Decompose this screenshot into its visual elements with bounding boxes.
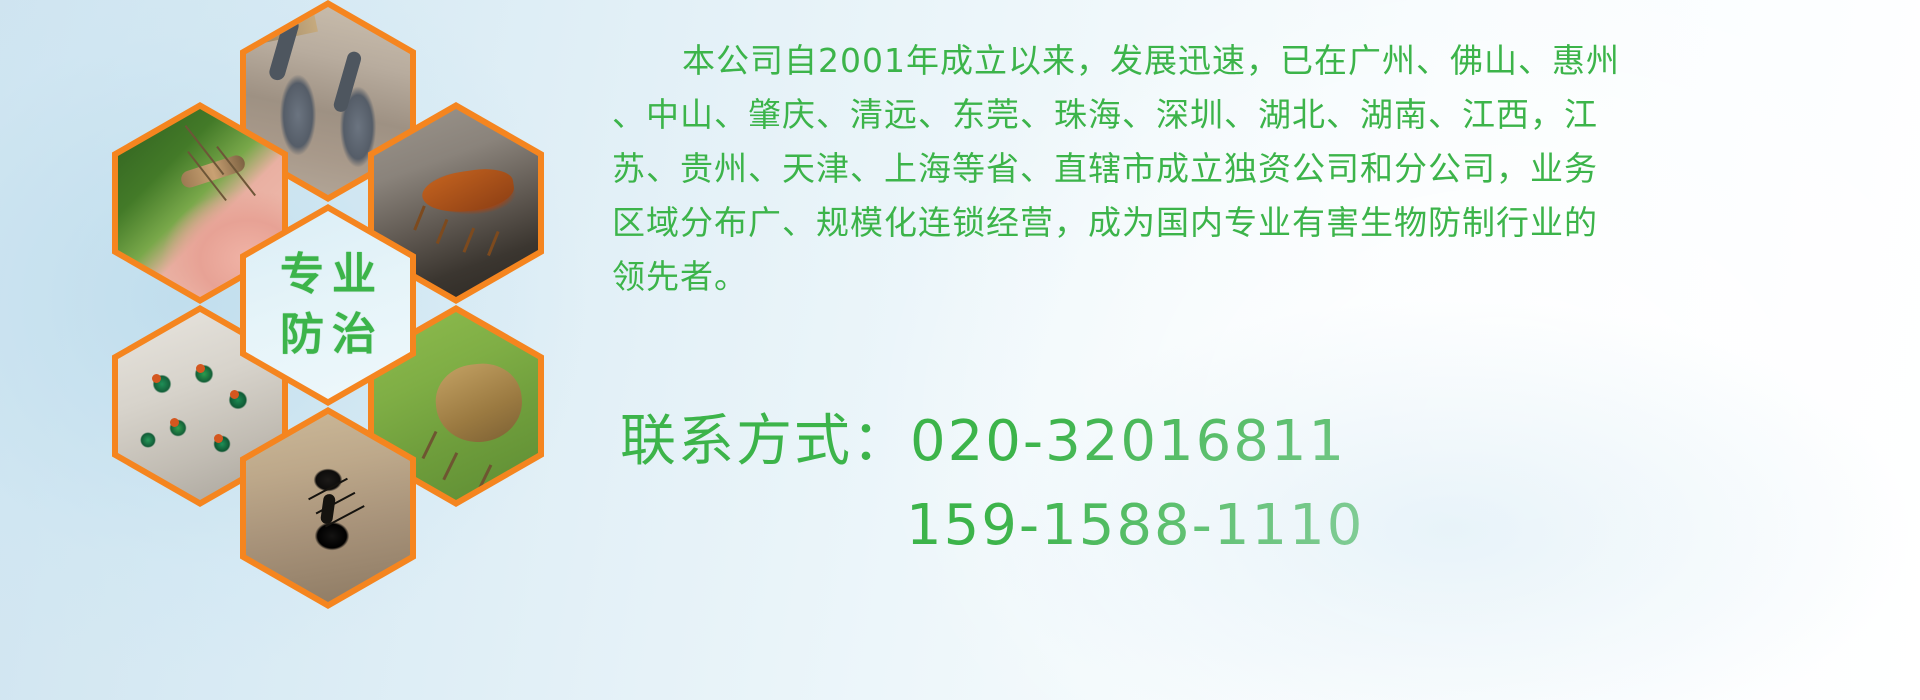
company-description: 本公司自2001年成立以来，发展迅速，已在广州、佛山、惠州 、中山、肇庆、清远、… xyxy=(612,34,1862,304)
description-line: 苏、贵州、天津、上海等省、直辖市成立独资公司和分公司，业务 xyxy=(612,142,1862,196)
contact-secondary-line[interactable]: 159-1588-1110 xyxy=(620,484,1880,568)
contact-block: 联系方式：020-32016811 159-1588-1110 xyxy=(620,400,1880,568)
hex-inner: 专业 防治 xyxy=(246,211,410,399)
hex-inner xyxy=(246,414,410,602)
description-line: 区域分布广、规模化连锁经营，成为国内专业有害生物防制行业的 xyxy=(612,196,1862,250)
slogan-line-2: 防治 xyxy=(272,312,384,358)
description-line: 、中山、肇庆、清远、东莞、珠海、深圳、湖北、湖南、江西，江 xyxy=(612,88,1862,142)
description-line: 领先者。 xyxy=(612,250,1862,304)
contact-primary-line[interactable]: 联系方式：020-32016811 xyxy=(620,400,1880,484)
honeycomb-image-cluster: 专业 防治 xyxy=(88,0,588,572)
promotional-banner: 专业 防治 本公司自2001年成立以来，发展迅速，已在广州、佛山、惠州 、中山、… xyxy=(0,0,1920,700)
description-line: 本公司自2001年成立以来，发展迅速，已在广州、佛山、惠州 xyxy=(612,34,1862,88)
slogan-line-1: 专业 xyxy=(272,252,384,298)
ant-photo-icon xyxy=(246,414,410,602)
